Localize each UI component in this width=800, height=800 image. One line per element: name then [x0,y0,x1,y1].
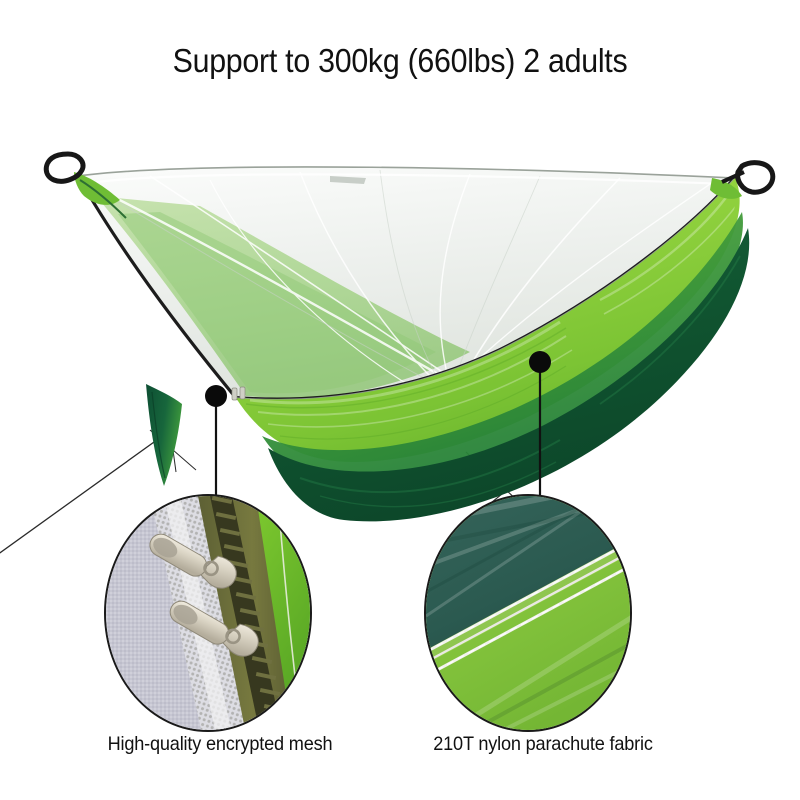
infographic-canvas: Support to 300kg (660lbs) 2 adults [0,0,800,800]
mesh-zipper-closeup [106,496,312,732]
caption-mesh: High-quality encrypted mesh [104,733,337,756]
callout-dot-fabric[interactable] [529,351,551,373]
detail-circle-fabric[interactable] [424,494,632,732]
carabiner-loop-icon [46,154,83,181]
callout-dot-mesh[interactable] [205,385,227,407]
hammock-tail-left [146,384,182,486]
hammock-end-right [710,163,773,199]
carabiner-loop-icon [738,163,773,193]
parachute-fabric-closeup [426,496,632,732]
detail-circle-mesh[interactable] [104,494,312,732]
caption-fabric: 210T nylon parachute fabric [427,733,660,756]
hammock-illustration [0,0,800,800]
